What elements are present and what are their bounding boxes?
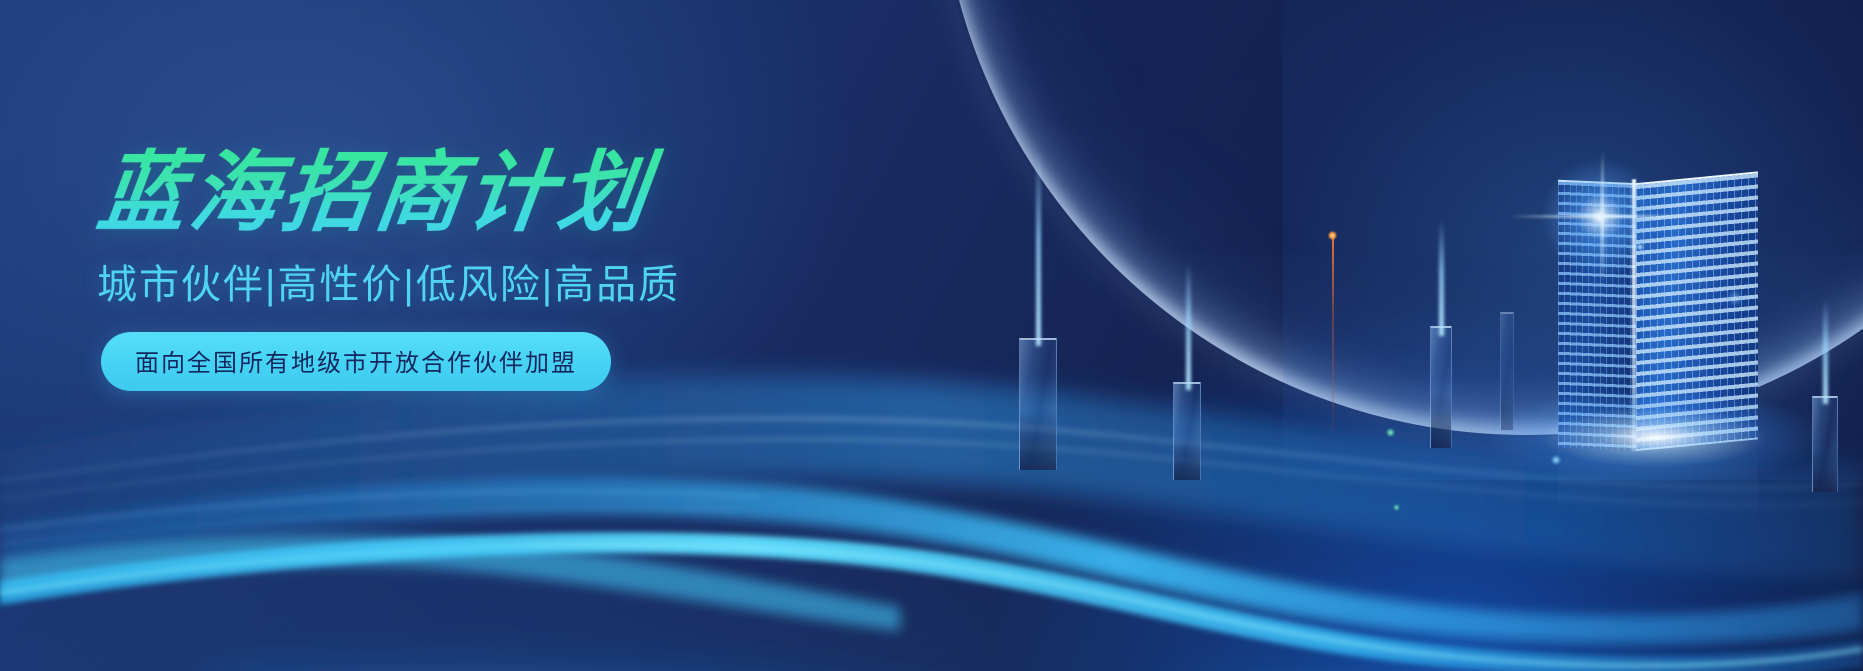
skyscraper-left-facade <box>1558 180 1636 451</box>
light-spark <box>1727 290 1743 306</box>
antenna-tip-light <box>1328 231 1337 240</box>
wave-highlight-line <box>0 545 1863 666</box>
banner-subtitle: 城市伙伴|高性价|低风险|高品质 <box>97 261 813 309</box>
glass-tower <box>1500 312 1514 430</box>
glass-tower <box>1019 338 1057 470</box>
glass-tower-beam <box>1439 220 1444 336</box>
wave-bottom-glow <box>200 609 1040 671</box>
wave-strand-b <box>0 509 740 545</box>
glass-tower <box>1430 326 1452 448</box>
skyscraper-windows-left <box>1558 182 1636 451</box>
skyscraper-building <box>1558 177 1758 455</box>
light-spark <box>1393 504 1400 511</box>
banner-content: 蓝海招商计划 城市伙伴|高性价|低风险|高品质 面向全国所有地级市开放合作伙伴加… <box>93 146 813 391</box>
wave-bottom-glow-2 <box>1170 627 1830 671</box>
light-spark <box>1551 455 1561 465</box>
glass-tower <box>1173 382 1201 480</box>
promo-banner: 蓝海招商计划 城市伙伴|高性价|低风险|高品质 面向全国所有地级市开放合作伙伴加… <box>0 0 1863 671</box>
skyscraper-corner-edge <box>1632 179 1636 451</box>
light-spark <box>1636 243 1644 251</box>
glass-tower <box>1812 396 1838 492</box>
wave-strand-a <box>0 492 760 529</box>
page-title: 蓝海招商计划 <box>93 146 824 239</box>
light-spark <box>1386 428 1395 437</box>
wave-crest-left <box>0 535 900 631</box>
glass-tower-beam <box>1186 262 1191 390</box>
glass-tower-beam <box>1823 300 1828 404</box>
antenna-mast <box>1332 236 1334 431</box>
wave-ribbon-main <box>0 533 1863 671</box>
banner-cta-pill[interactable]: 面向全国所有地级市开放合作伙伴加盟 <box>101 332 611 391</box>
skyscraper-roof-flare-vertical <box>1601 150 1604 284</box>
glass-tower-beam <box>1036 150 1041 346</box>
skyscraper-right-facade <box>1636 171 1758 451</box>
